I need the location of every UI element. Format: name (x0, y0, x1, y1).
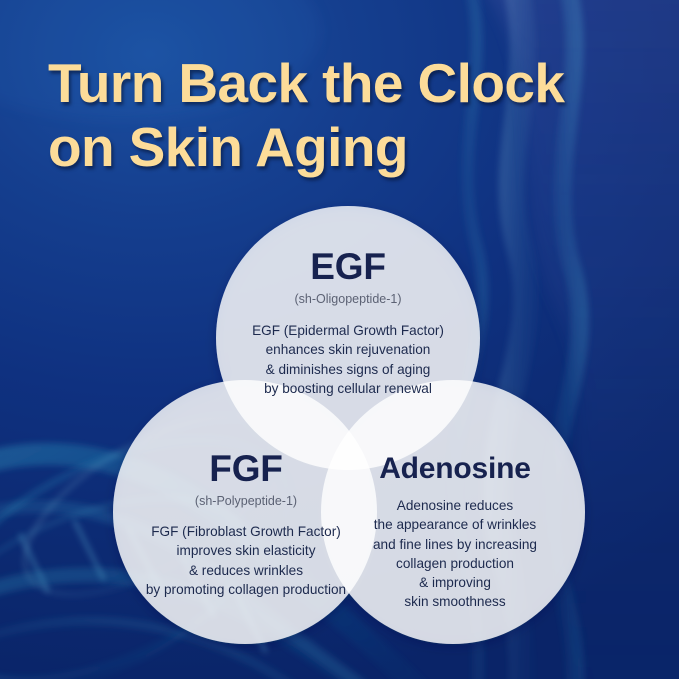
adenosine-body: Adenosine reduces the appearance of wrin… (348, 496, 562, 612)
fgf-subtitle: (sh-Polypeptide-1) (110, 494, 382, 508)
venn-section-adenosine: Adenosine Adenosine reduces the appearan… (348, 452, 562, 612)
adenosine-title: Adenosine (348, 452, 562, 486)
poster-canvas: Turn Back the Clock on Skin Aging EGF (s… (0, 0, 679, 679)
fgf-body: FGF (Fibroblast Growth Factor) improves … (110, 522, 382, 599)
venn-section-egf: EGF (sh-Oligopeptide-1) EGF (Epidermal G… (216, 246, 480, 398)
egf-subtitle: (sh-Oligopeptide-1) (216, 292, 480, 306)
fgf-title: FGF (110, 448, 382, 490)
page-title: Turn Back the Clock on Skin Aging (48, 52, 668, 180)
egf-body: EGF (Epidermal Growth Factor) enhances s… (216, 321, 480, 398)
egf-title: EGF (216, 246, 480, 288)
venn-section-fgf: FGF (sh-Polypeptide-1) FGF (Fibroblast G… (110, 448, 382, 599)
